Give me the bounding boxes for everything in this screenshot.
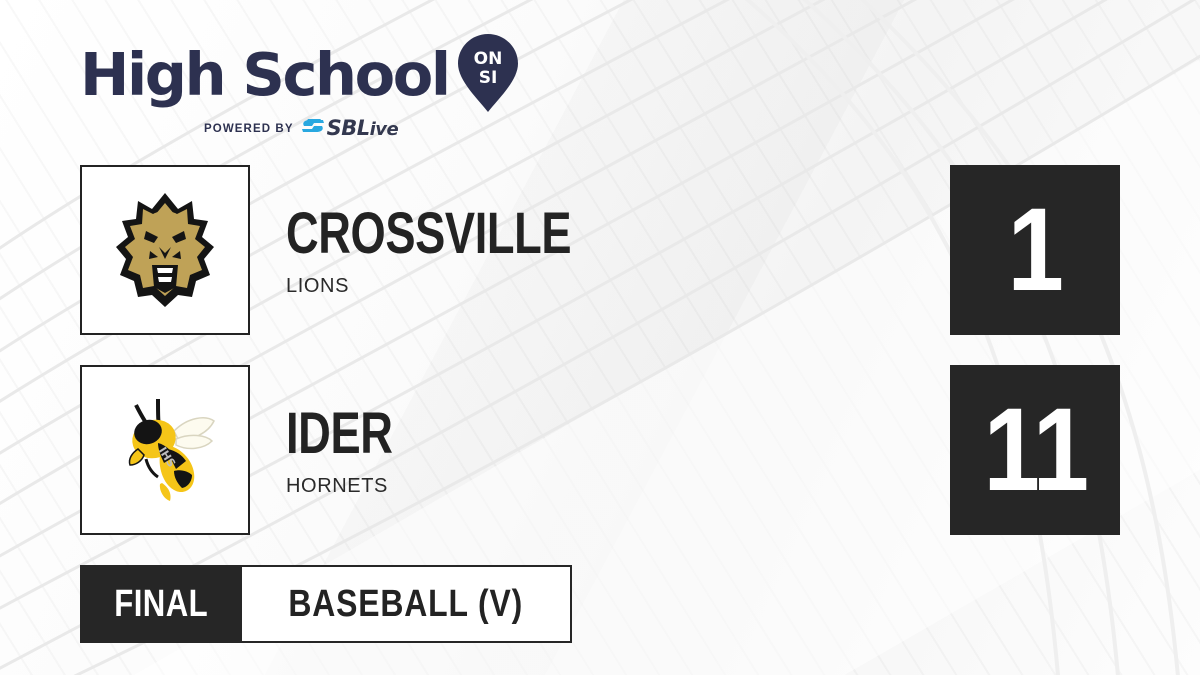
brand-logo-row: High School ON SI <box>80 34 519 114</box>
game-status-label: FINAL <box>114 583 208 626</box>
sblive-logo: SBLive <box>301 118 399 139</box>
team-mascot-name: HORNETS <box>286 476 388 496</box>
powered-by-row: POWERED BY SBLive <box>204 118 398 139</box>
team-text-block: IDER HORNETS <box>286 365 423 535</box>
team-text-block: CROSSVILLE LIONS <box>286 165 652 335</box>
team-name: IDER <box>286 405 393 463</box>
svg-text:ON: ON <box>473 49 502 69</box>
sblive-wordmark-upper: SBL <box>327 116 370 140</box>
hornet-icon: IHS <box>102 387 228 513</box>
sblive-s-icon <box>301 119 325 138</box>
team-name: CROSSVILLE <box>286 205 571 263</box>
team-score: 11 <box>983 391 1087 509</box>
team-score-box: 1 <box>950 165 1120 335</box>
lion-head-icon <box>102 187 228 313</box>
svg-text:SI: SI <box>478 68 497 88</box>
game-status-badge: FINAL <box>80 565 242 643</box>
powered-by-label: POWERED BY <box>204 123 294 135</box>
team-score: 1 <box>1008 191 1063 309</box>
status-bar: FINAL BASEBALL (V) <box>80 565 572 643</box>
brand-logo: High School ON SI POWERED BY <box>80 34 519 139</box>
sport-badge: BASEBALL (V) <box>242 565 571 643</box>
sblive-wordmark-lower: ive <box>370 119 399 140</box>
team-score-box: 11 <box>950 365 1120 535</box>
team-logo-box: IHS <box>80 365 250 535</box>
on-si-pin-icon: ON SI <box>457 34 519 112</box>
scoreboard-graphic: High School ON SI POWERED BY <box>0 0 1200 675</box>
sport-label: BASEBALL (V) <box>289 583 524 626</box>
brand-logo-text: High School <box>80 45 449 104</box>
team-logo-box <box>80 165 250 335</box>
sblive-wordmark: SBLive <box>327 118 399 139</box>
team-mascot-name: LIONS <box>286 276 349 296</box>
